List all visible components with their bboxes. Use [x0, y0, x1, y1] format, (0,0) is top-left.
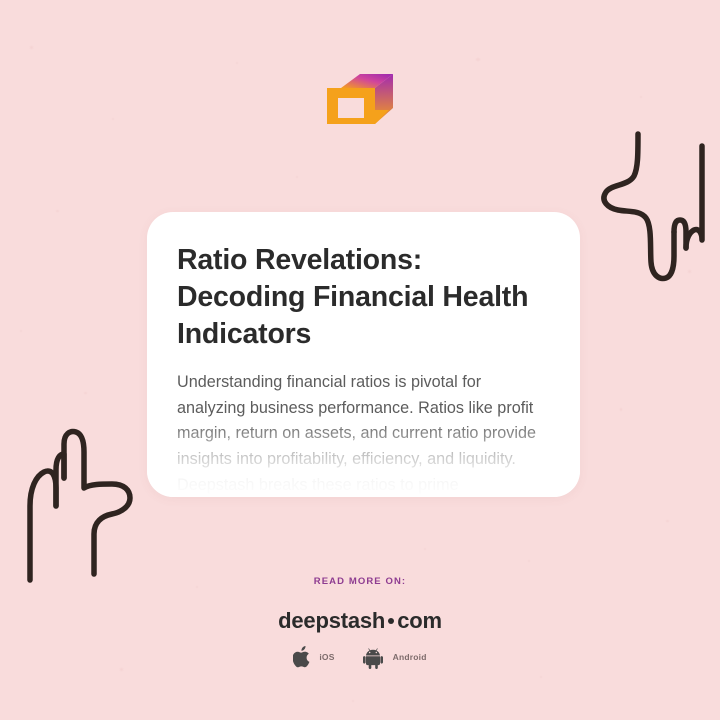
read-more-label: READ MORE ON:: [0, 576, 720, 587]
pointing-hand-icon: [594, 128, 712, 288]
brand-dot-icon: [388, 618, 394, 624]
card-inner: Ratio Revelations: Decoding Financial He…: [147, 212, 580, 497]
content-card[interactable]: Ratio Revelations: Decoding Financial He…: [147, 212, 580, 497]
deepstash-cube-icon: [327, 74, 393, 138]
card-body-text: Understanding financial ratios is pivota…: [177, 370, 550, 497]
android-icon: [363, 645, 387, 669]
store-badge-ios[interactable]: iOS: [293, 645, 334, 669]
brand-logo: [0, 74, 720, 138]
social-card-canvas: Ratio Revelations: Decoding Financial He…: [0, 0, 720, 720]
pointing-hand-icon: [18, 422, 146, 580]
store-badges: iOS Android: [0, 645, 720, 669]
card-title: Ratio Revelations: Decoding Financial He…: [177, 242, 550, 353]
store-label-android: Android: [393, 652, 427, 662]
store-label-ios: iOS: [319, 652, 334, 662]
brand-wordmark[interactable]: deepstashcom: [0, 608, 720, 634]
hand-bottom-left-illustration: [18, 422, 146, 580]
brand-name: deepstash: [278, 608, 385, 633]
store-badge-android[interactable]: Android: [363, 645, 427, 669]
brand-tld: com: [397, 608, 442, 633]
hand-top-right-illustration: [594, 128, 712, 288]
apple-icon: [293, 645, 313, 669]
